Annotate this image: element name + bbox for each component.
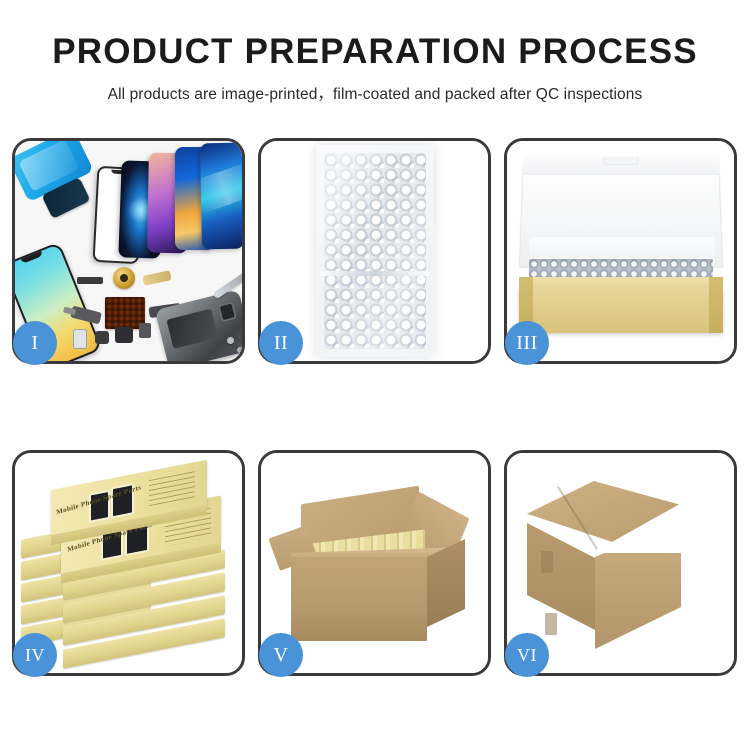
step-badge-1: I	[13, 321, 57, 365]
kraft-box-stack-icon: Mobile Phone Spare Parts Mobile Phone Sp…	[19, 469, 239, 665]
product-preparation-infographic: PRODUCT PREPARATION PROCESS All products…	[0, 0, 750, 750]
carton-right-face	[595, 553, 681, 649]
step-panel-4: Mobile Phone Spare Parts Mobile Phone Sp…	[12, 450, 245, 676]
carton-front-panel	[291, 557, 427, 641]
kraft-box-base-icon	[519, 287, 723, 333]
screw-icon	[237, 347, 242, 353]
camera-module-icon	[73, 329, 87, 349]
page-title: PRODUCT PREPARATION PROCESS	[0, 0, 750, 71]
carton-tape-icon	[545, 613, 557, 635]
small-part-d-icon	[139, 323, 151, 338]
step-badge-2: II	[259, 321, 303, 365]
bubble-wrap-sleeve-icon	[316, 145, 434, 357]
open-carton-icon	[277, 489, 467, 645]
vibration-motor-icon	[113, 267, 135, 289]
step-panel-2: II	[258, 138, 491, 364]
plastic-sheen	[316, 145, 434, 357]
step-badge-5: V	[259, 633, 303, 677]
carton-tape-icon	[541, 551, 553, 573]
phone-screen-cyan-icon	[200, 143, 242, 250]
small-part-c-icon	[115, 327, 133, 343]
step-badge-3: III	[505, 321, 549, 365]
flex-cable-gold-icon	[142, 270, 171, 286]
step-panel-3: III	[504, 138, 737, 364]
speaker-part-icon	[77, 277, 103, 284]
screw-icon	[227, 337, 234, 344]
phone-chassis-icon	[155, 290, 242, 361]
process-steps-grid: I II III	[12, 138, 738, 690]
header: PRODUCT PREPARATION PROCESS All products…	[0, 0, 750, 104]
step-panel-1: I	[12, 138, 245, 364]
step-panel-5: V	[258, 450, 491, 676]
step-badge-4: IV	[13, 633, 57, 677]
small-part-b-icon	[95, 331, 109, 344]
page-subtitle: All products are image-printed，film-coat…	[0, 71, 750, 104]
sealed-carton-icon	[527, 481, 717, 645]
step-badge-6: VI	[505, 633, 549, 677]
step-panel-6: VI	[504, 450, 737, 676]
